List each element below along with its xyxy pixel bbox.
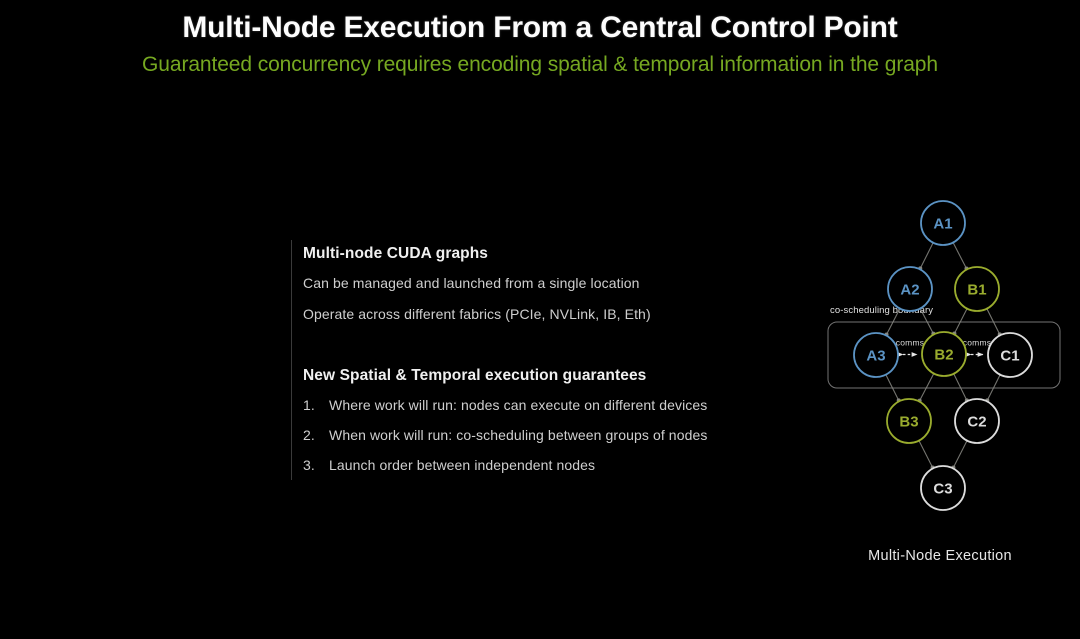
content-block-guarantees: New Spatial & Temporal execution guarant… xyxy=(303,362,791,480)
graph-node-label: C3 xyxy=(933,481,952,498)
content-body: Multi-node CUDA graphs Can be managed an… xyxy=(291,240,791,480)
graph-node-b2[interactable]: B2 xyxy=(922,332,966,376)
graph-node-label: B3 xyxy=(899,414,918,431)
guarantees-list: 1. Where work will run: nodes can execut… xyxy=(303,390,791,480)
list-item-number: 2. xyxy=(303,420,329,450)
graph-node-c3[interactable]: C3 xyxy=(921,466,965,510)
block-line: Operate across different fabrics (PCIe, … xyxy=(303,299,791,330)
list-item-label: When work will run: co-scheduling betwee… xyxy=(329,420,707,450)
list-item: 1. Where work will run: nodes can execut… xyxy=(303,390,791,420)
graph-edge-a1-b1 xyxy=(953,243,966,269)
graph-node-b1[interactable]: B1 xyxy=(955,267,999,311)
comms-link-label: comms xyxy=(896,338,924,348)
block-heading: Multi-node CUDA graphs xyxy=(303,240,791,268)
list-item-label: Launch order between independent nodes xyxy=(329,450,595,480)
graph-node-c1[interactable]: C1 xyxy=(988,333,1032,377)
graph-svg: co-scheduling boundarycommscommsA1A2B1A3… xyxy=(800,190,1080,530)
block-heading: New Spatial & Temporal execution guarant… xyxy=(303,362,791,390)
graph-node-label: B1 xyxy=(967,282,986,299)
multi-node-graph-diagram: co-scheduling boundarycommscommsA1A2B1A3… xyxy=(800,190,1080,590)
graph-edge-b1-b2 xyxy=(954,309,967,334)
content-block-cuda-graphs: Multi-node CUDA graphs Can be managed an… xyxy=(303,240,791,330)
slide-header: Multi-Node Execution From a Central Cont… xyxy=(0,8,1080,80)
graph-node-b3[interactable]: B3 xyxy=(887,399,931,443)
slide-canvas: Multi-Node Execution From a Central Cont… xyxy=(0,0,1080,639)
comms-link-label: comms xyxy=(963,338,991,348)
graph-caption: Multi-Node Execution xyxy=(800,548,1080,564)
graph-node-c2[interactable]: C2 xyxy=(955,399,999,443)
list-item: 2. When work will run: co-scheduling bet… xyxy=(303,420,791,450)
list-item: 3. Launch order between independent node… xyxy=(303,450,791,480)
list-item-number: 1. xyxy=(303,390,329,420)
graph-edge-a1-a2 xyxy=(920,243,933,269)
graph-node-label: C1 xyxy=(1000,348,1019,365)
block-line: Can be managed and launched from a singl… xyxy=(303,268,791,299)
graph-edge-c2-c3 xyxy=(953,441,967,468)
graph-edge-b2-b3 xyxy=(920,373,934,400)
page-subtitle: Guaranteed concurrency requires encoding… xyxy=(0,50,1080,80)
graph-node-a3[interactable]: A3 xyxy=(854,333,898,377)
graph-node-label: C2 xyxy=(967,414,986,431)
graph-node-label: A2 xyxy=(900,282,919,299)
graph-node-a1[interactable]: A1 xyxy=(921,201,965,245)
list-item-label: Where work will run: nodes can execute o… xyxy=(329,390,707,420)
graph-node-label: A1 xyxy=(933,216,952,233)
graph-edge-b3-c3 xyxy=(919,441,933,468)
graph-node-a2[interactable]: A2 xyxy=(888,267,932,311)
graph-edge-b2-c2 xyxy=(954,374,967,401)
page-title: Multi-Node Execution From a Central Cont… xyxy=(0,8,1080,48)
graph-node-label: B2 xyxy=(934,347,953,364)
graph-node-label: A3 xyxy=(866,348,885,365)
list-item-number: 3. xyxy=(303,450,329,480)
